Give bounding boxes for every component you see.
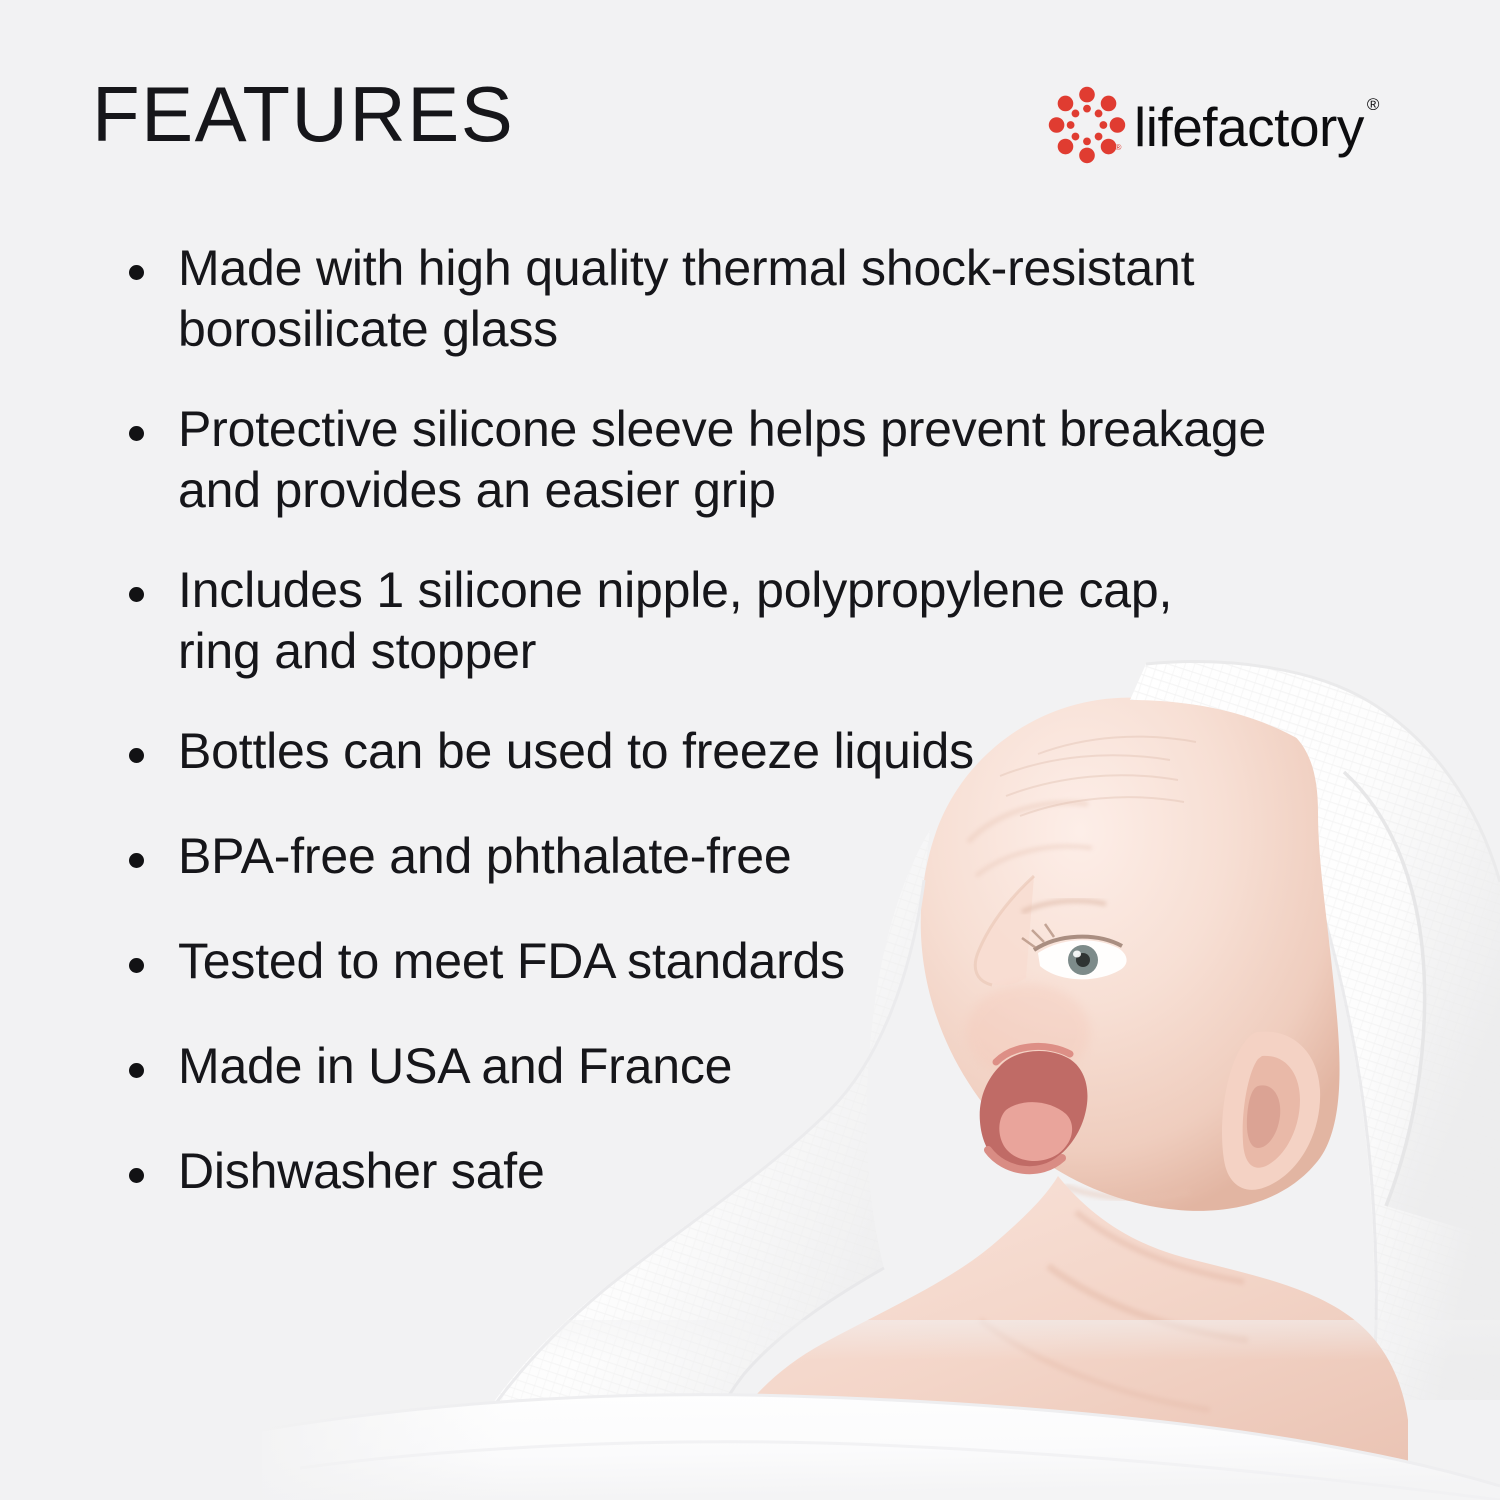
bullet-icon: [129, 265, 144, 280]
feature-text: Made with high quality thermal shock-res…: [178, 238, 1410, 360]
feature-text: Includes 1 silicone nipple, polypropylen…: [178, 560, 1410, 682]
feature-text: Tested to meet FDA standards: [178, 931, 1410, 992]
brand-wordmark: lifefactory®: [1134, 100, 1376, 155]
bullet-icon: [129, 853, 144, 868]
bullet-icon: [129, 1168, 144, 1183]
features-page: FEATURES: [0, 0, 1500, 1500]
svg-text:®: ®: [1115, 142, 1122, 152]
list-item: Dishwasher safe: [120, 1141, 1410, 1207]
list-item: Includes 1 silicone nipple, polypropylen…: [120, 560, 1410, 682]
content-layer: FEATURES: [0, 0, 1500, 1500]
list-item: Protective silicone sleeve helps prevent…: [120, 399, 1410, 521]
list-item: BPA-free and phthalate-free: [120, 826, 1410, 892]
page-title: FEATURES: [92, 75, 514, 153]
bullet-icon: [129, 748, 144, 763]
brand-logo: ® lifefactory®: [1048, 82, 1420, 168]
feature-text: BPA-free and phthalate-free: [178, 826, 1410, 887]
bullet-icon: [129, 426, 144, 441]
brand-name: lifefactory: [1134, 96, 1364, 158]
feature-text: Protective silicone sleeve helps prevent…: [178, 399, 1410, 521]
list-item: Made with high quality thermal shock-res…: [120, 238, 1410, 360]
bullet-icon: [129, 1063, 144, 1078]
feature-text: Bottles can be used to freeze liquids: [178, 721, 1410, 782]
bullet-icon: [129, 958, 144, 973]
feature-text: Dishwasher safe: [178, 1141, 1410, 1202]
feature-text: Made in USA and France: [178, 1036, 1410, 1097]
feature-list: Made with high quality thermal shock-res…: [120, 238, 1410, 1246]
list-item: Made in USA and France: [120, 1036, 1410, 1102]
list-item: Bottles can be used to freeze liquids: [120, 721, 1410, 787]
registered-trademark-icon: ®: [1367, 95, 1379, 114]
list-item: Tested to meet FDA standards: [120, 931, 1410, 997]
lifefactory-dot-burst-icon: ®: [1048, 86, 1126, 164]
bullet-icon: [129, 587, 144, 602]
page-header: FEATURES: [0, 0, 1500, 190]
